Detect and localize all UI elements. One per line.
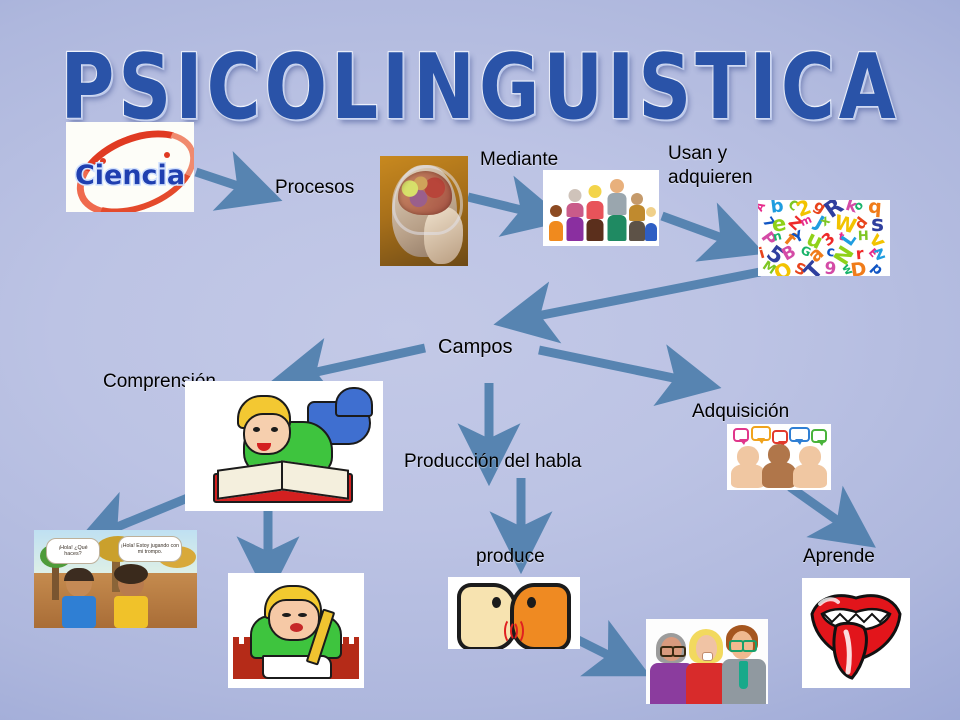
family-grandmother [565,189,585,241]
red-lips-tongue-image [802,578,910,688]
arrow-adquisicion-to-aprende [790,487,848,528]
arrow-comprension-to-comic [105,497,190,532]
family-cartoon-image [543,170,659,246]
reading-eye [253,427,260,432]
baby-bubble-1 [733,428,749,442]
writing-paper [262,655,332,679]
arrow-campos-to-comprension [303,348,425,375]
comic-kid-left-body [62,596,96,628]
writing-face [268,599,320,641]
arrow-campos-to-adquisicion [539,350,688,381]
adult-3-glasses-right [742,640,757,652]
two-faces-speaking-image [448,577,580,649]
boy-writing-image [228,573,364,688]
arrow-brain-to-family [468,197,534,213]
label-campos: Campos [438,335,512,359]
family-little-boy [644,207,658,241]
family-mother [585,185,605,241]
label-procesos: Procesos [275,176,354,200]
adult-3-tie [739,661,748,689]
ciencia-logo: Ciencia [66,122,194,212]
three-adults-image [646,619,768,704]
adult-1-glasses-right [672,646,686,657]
boy-reading-image [185,381,383,511]
baby-body-2 [762,462,796,488]
comic-kid-right-body [114,596,148,628]
skull-outline [392,165,463,235]
label-usan-y-adquieren: Usan y adquieren [668,142,753,190]
sound-wave-4 [504,618,518,644]
colorful-letters-image: AbC2gRkoq7eZmJxWdsPnfYu3tLHvi5BGacNrEzMO… [758,200,890,276]
three-babies-image [727,424,831,490]
comic-kid-right-hair [114,564,148,584]
kids-talking-comic-image: ¡Hola! ¿Qué haces? ¡Hola! Estoy jugando … [34,530,197,628]
writing-eye [282,613,291,617]
brain-head-image [380,156,468,266]
arrow-family-to-letters [662,216,733,242]
arrow-letters-to-campos [527,272,760,318]
face-right-eye [527,597,536,608]
ciencia-dot-right-icon [164,152,170,158]
label-mediante: Mediante [480,148,558,172]
ciencia-wordmark: Ciencia [66,160,194,191]
lips-svg [802,578,910,688]
baby-bubble-3 [772,430,788,444]
family-child-girl [547,205,564,241]
baby-bubble-4 [789,427,810,442]
comic-bubble-left: ¡Hola! ¿Qué haces? [46,538,100,564]
baby-bubble-2 [751,426,771,441]
letters-collage: AbC2gRkoq7eZmJxWdsPnfYu3tLHvi5BGacNrEzMO… [758,200,890,276]
label-produce: produce [476,545,545,569]
slide-canvas: PSICOLINGUISTICA Ciencia Procesos Median… [0,0,960,720]
baby-bubble-5 [811,429,827,443]
reading-eye-2 [271,427,278,432]
reading-feet [335,387,373,417]
baby-body-3 [793,464,827,488]
adult-2-mouth [702,652,713,661]
writing-mouth [290,623,303,632]
arrow-ciencia-to-procesos [196,172,250,190]
label-aprende: Aprende [803,545,875,569]
label-produccion-del-habla: Producción del habla [404,450,581,474]
baby-body-1 [731,464,765,488]
comic-bubble-right: ¡Hola! Estoy jugando con mi trompo. [118,536,182,562]
family-father [605,179,629,241]
writing-eye-2 [298,613,307,617]
label-adquisicion: Adquisición [692,400,789,424]
face-left-eye [492,597,501,608]
